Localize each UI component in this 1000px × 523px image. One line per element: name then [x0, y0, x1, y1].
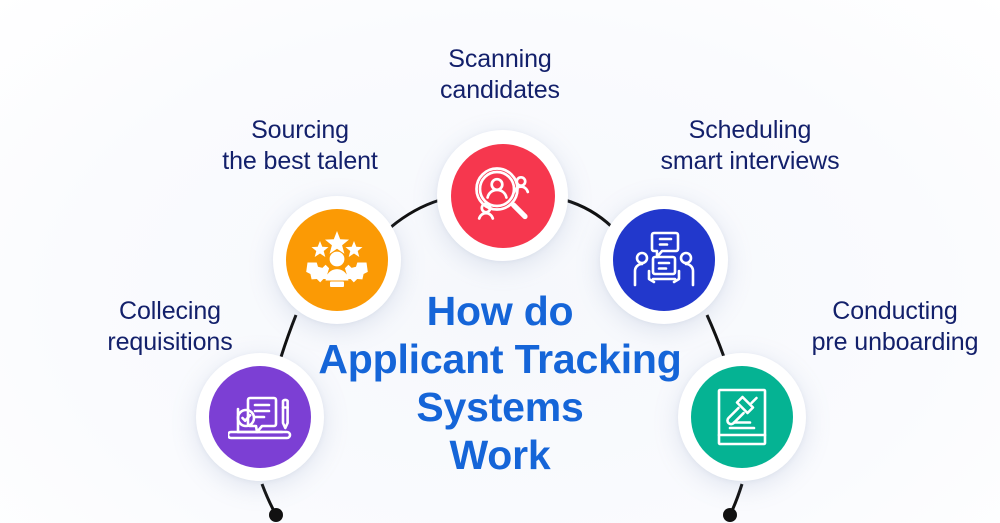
- page-title: How do Applicant Tracking Systems Work: [300, 288, 700, 480]
- connector-sourcing-to-scanning: [391, 200, 440, 227]
- label-sourcing-talent: Sourcing the best talent: [150, 115, 450, 176]
- connector-requisitions-downward: [262, 484, 275, 513]
- label-scheduling-interviews: Scheduling smart interviews: [600, 115, 900, 176]
- connector-endpoint-left-dot: [269, 508, 283, 522]
- gear-person-stars-icon: [304, 229, 370, 291]
- node-disc-collecting-requisitions: [209, 366, 311, 468]
- node-disc-pre-unboarding: [691, 366, 793, 468]
- laptop-document-pen-icon: [228, 387, 292, 447]
- connector-scheduling-to-unboarding: [707, 315, 724, 357]
- connector-unboarding-downward: [731, 484, 742, 513]
- label-scanning-candidates: Scanning candidates: [350, 44, 650, 105]
- interview-chat-icon: [632, 229, 696, 291]
- gavel-book-icon: [714, 386, 770, 448]
- label-collecting-requisitions: Collecing requisitions: [25, 296, 315, 357]
- connector-scanning-to-scheduling: [565, 200, 612, 227]
- magnifier-people-icon: [470, 163, 536, 229]
- node-scanning-candidates[interactable]: [437, 130, 568, 261]
- ats-process-infographic: Scanning candidates Sourcing the best ta…: [0, 0, 1000, 523]
- node-disc-scanning-candidates: [451, 144, 555, 248]
- connector-endpoint-right-dot: [723, 508, 737, 522]
- label-pre-unboarding: Conducting pre unboarding: [750, 296, 1000, 357]
